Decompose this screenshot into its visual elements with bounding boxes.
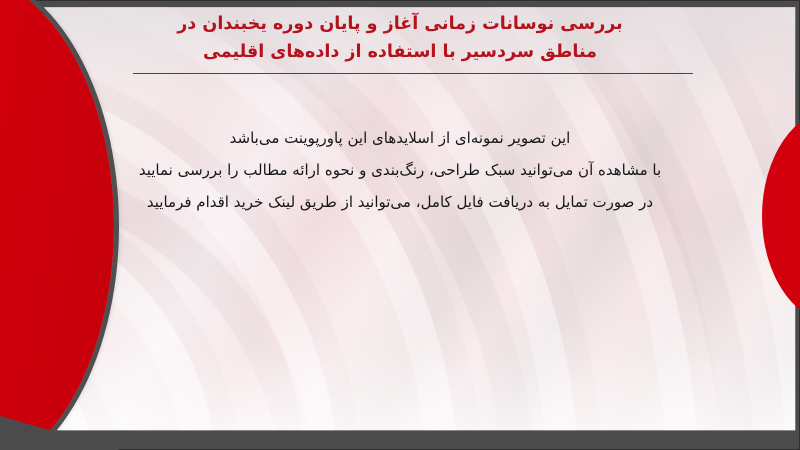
slide-body: این تصویر نمونه‌ای از اسلایدهای این پاور…	[60, 122, 740, 218]
slide-body-line-3: در صورت تمایل به دریافت فایل کامل، می‌تو…	[60, 186, 740, 218]
title-underline	[133, 73, 693, 74]
slide-title-line-2: مناطق سردسیر با استفاده از داده‌های اقلی…	[100, 38, 700, 66]
presentation-slide: بررسی نوسانات زمانی آغاز و پایان دوره یخ…	[0, 0, 800, 450]
background-arc-pattern	[0, 0, 800, 450]
slide-title: بررسی نوسانات زمانی آغاز و پایان دوره یخ…	[100, 10, 700, 66]
slide-body-line-1: این تصویر نمونه‌ای از اسلایدهای این پاور…	[60, 122, 740, 154]
slide-body-line-2: با مشاهده آن می‌توانید سبک طراحی، رنگ‌بن…	[60, 154, 740, 186]
slide-title-line-1: بررسی نوسانات زمانی آغاز و پایان دوره یخ…	[100, 10, 700, 38]
